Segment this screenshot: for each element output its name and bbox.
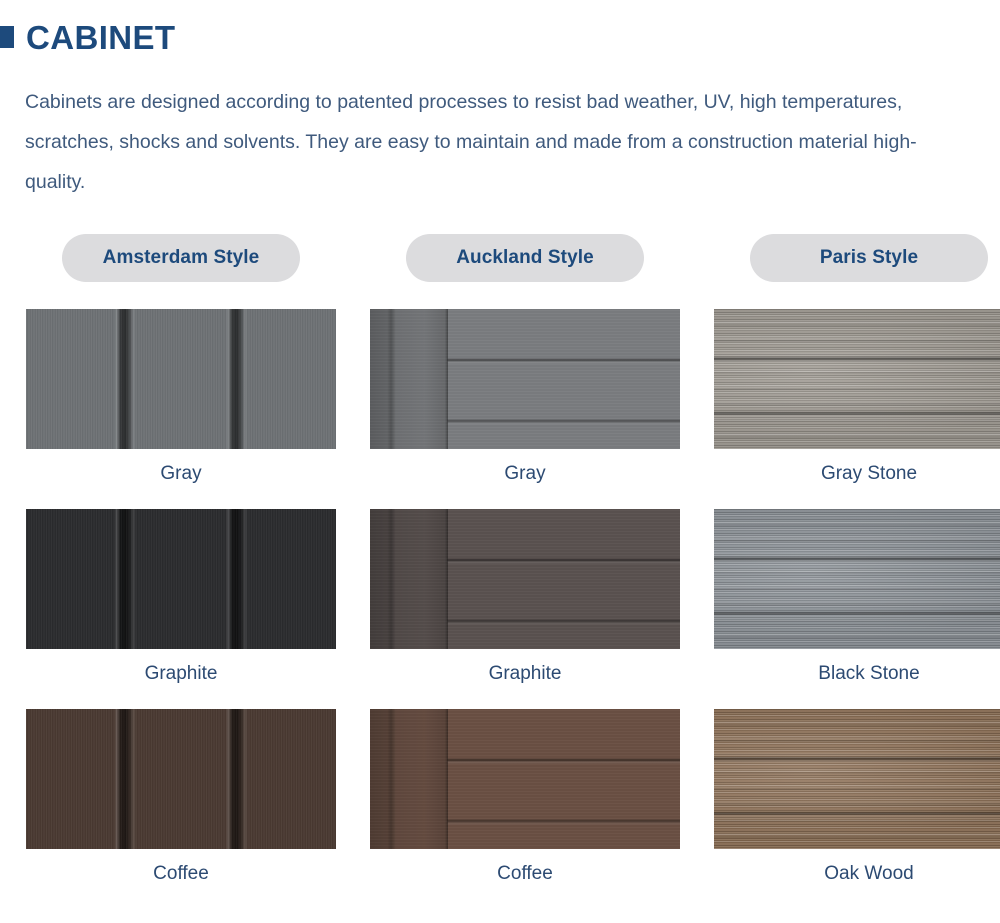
swatch-label: Coffee xyxy=(18,849,344,899)
swatch-paris-gray-stone[interactable] xyxy=(714,309,1000,449)
swatch-amsterdam-graphite[interactable] xyxy=(26,509,336,649)
style-tab-column-amsterdam: Amsterdam Style xyxy=(18,234,344,282)
swatch-label: Oak Wood xyxy=(706,849,1000,899)
style-tab-column-paris: Paris Style xyxy=(706,234,1000,282)
intro-paragraph: Cabinets are designed according to paten… xyxy=(25,82,975,202)
panel-rail xyxy=(370,709,448,849)
swatch-label: Gray Stone xyxy=(706,449,1000,499)
panel-rail xyxy=(370,509,448,649)
swatch-label: Gray xyxy=(362,449,688,499)
swatch-cell: Gray xyxy=(18,309,344,499)
swatch-label: Coffee xyxy=(362,849,688,899)
swatch-cell: Graphite xyxy=(18,509,344,699)
style-tab-auckland[interactable]: Auckland Style xyxy=(406,234,644,282)
swatch-label: Graphite xyxy=(18,649,344,699)
title-square-marker-icon xyxy=(0,26,14,48)
style-tab-column-auckland: Auckland Style xyxy=(362,234,688,282)
swatch-row: Coffee Coffee Oak Wood xyxy=(18,709,982,899)
swatch-paris-black-stone[interactable] xyxy=(714,509,1000,649)
swatch-row: Gray Gray Gray Stone xyxy=(18,309,982,499)
swatch-cell: Gray Stone xyxy=(706,309,1000,499)
page-header: CABINET Cabinets are designed according … xyxy=(0,0,1000,202)
swatch-paris-oak-wood[interactable] xyxy=(714,709,1000,849)
style-tab-amsterdam[interactable]: Amsterdam Style xyxy=(62,234,300,282)
title-row: CABINET xyxy=(0,14,1000,60)
style-tab-paris[interactable]: Paris Style xyxy=(750,234,988,282)
swatch-grid: Gray Gray Gray Stone Graphite Graphite B… xyxy=(0,309,1000,899)
swatch-amsterdam-coffee[interactable] xyxy=(26,709,336,849)
swatch-label: Black Stone xyxy=(706,649,1000,699)
swatch-label: Gray xyxy=(18,449,344,499)
swatch-cell: Graphite xyxy=(362,509,688,699)
style-tabs: Amsterdam Style Auckland Style Paris Sty… xyxy=(0,234,1000,282)
swatch-row: Graphite Graphite Black Stone xyxy=(18,509,982,699)
panel-rail xyxy=(370,309,448,449)
swatch-cell: Oak Wood xyxy=(706,709,1000,899)
swatch-cell: Coffee xyxy=(18,709,344,899)
swatch-auckland-graphite[interactable] xyxy=(370,509,680,649)
swatch-auckland-gray[interactable] xyxy=(370,309,680,449)
swatch-cell: Black Stone xyxy=(706,509,1000,699)
swatch-amsterdam-gray[interactable] xyxy=(26,309,336,449)
swatch-label: Graphite xyxy=(362,649,688,699)
page-title: CABINET xyxy=(26,21,175,54)
swatch-cell: Coffee xyxy=(362,709,688,899)
swatch-cell: Gray xyxy=(362,309,688,499)
swatch-auckland-coffee[interactable] xyxy=(370,709,680,849)
